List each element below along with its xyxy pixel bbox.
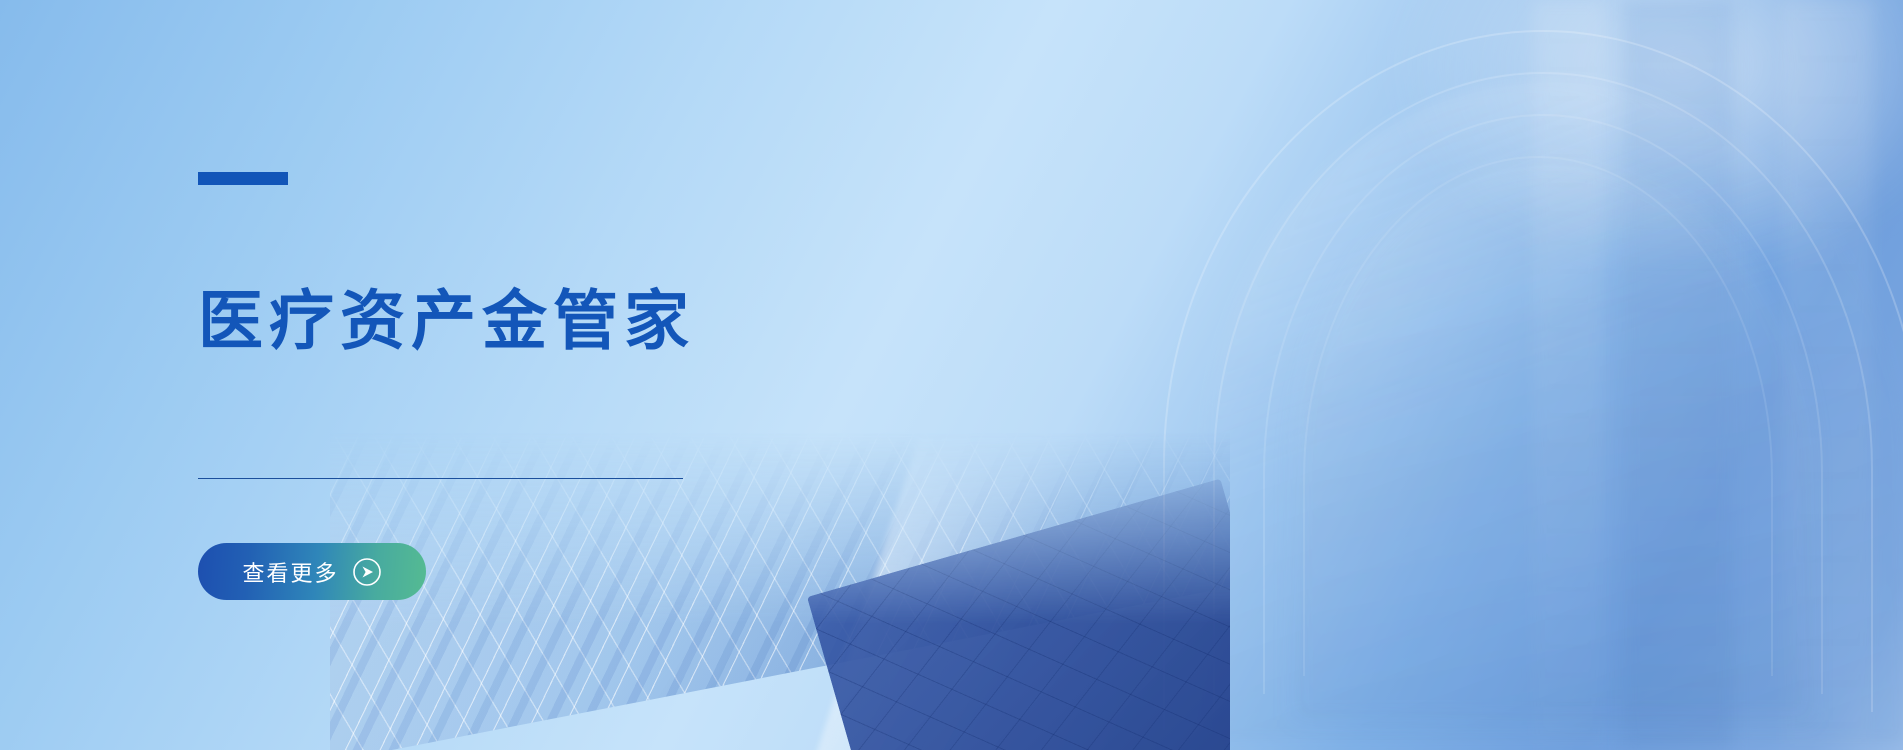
view-more-button[interactable]: 查看更多	[198, 543, 426, 600]
hero-left-content: 医疗资产金管家 查看更多	[198, 0, 838, 750]
arrow-right-circle-icon	[352, 557, 382, 587]
page-title: 医疗资产金管家	[198, 288, 695, 353]
service-card-list: 服务于 临床科室 以专业高效的技术和质控服务，助力临 床科室保障医疗设备的 安全…	[1143, 0, 1903, 750]
horizontal-divider	[198, 478, 683, 479]
accent-bar	[198, 172, 288, 185]
hero-banner: 医疗资产金管家 查看更多 服务于 临床科室 以专业	[0, 0, 1903, 750]
view-more-label: 查看更多	[242, 556, 338, 588]
